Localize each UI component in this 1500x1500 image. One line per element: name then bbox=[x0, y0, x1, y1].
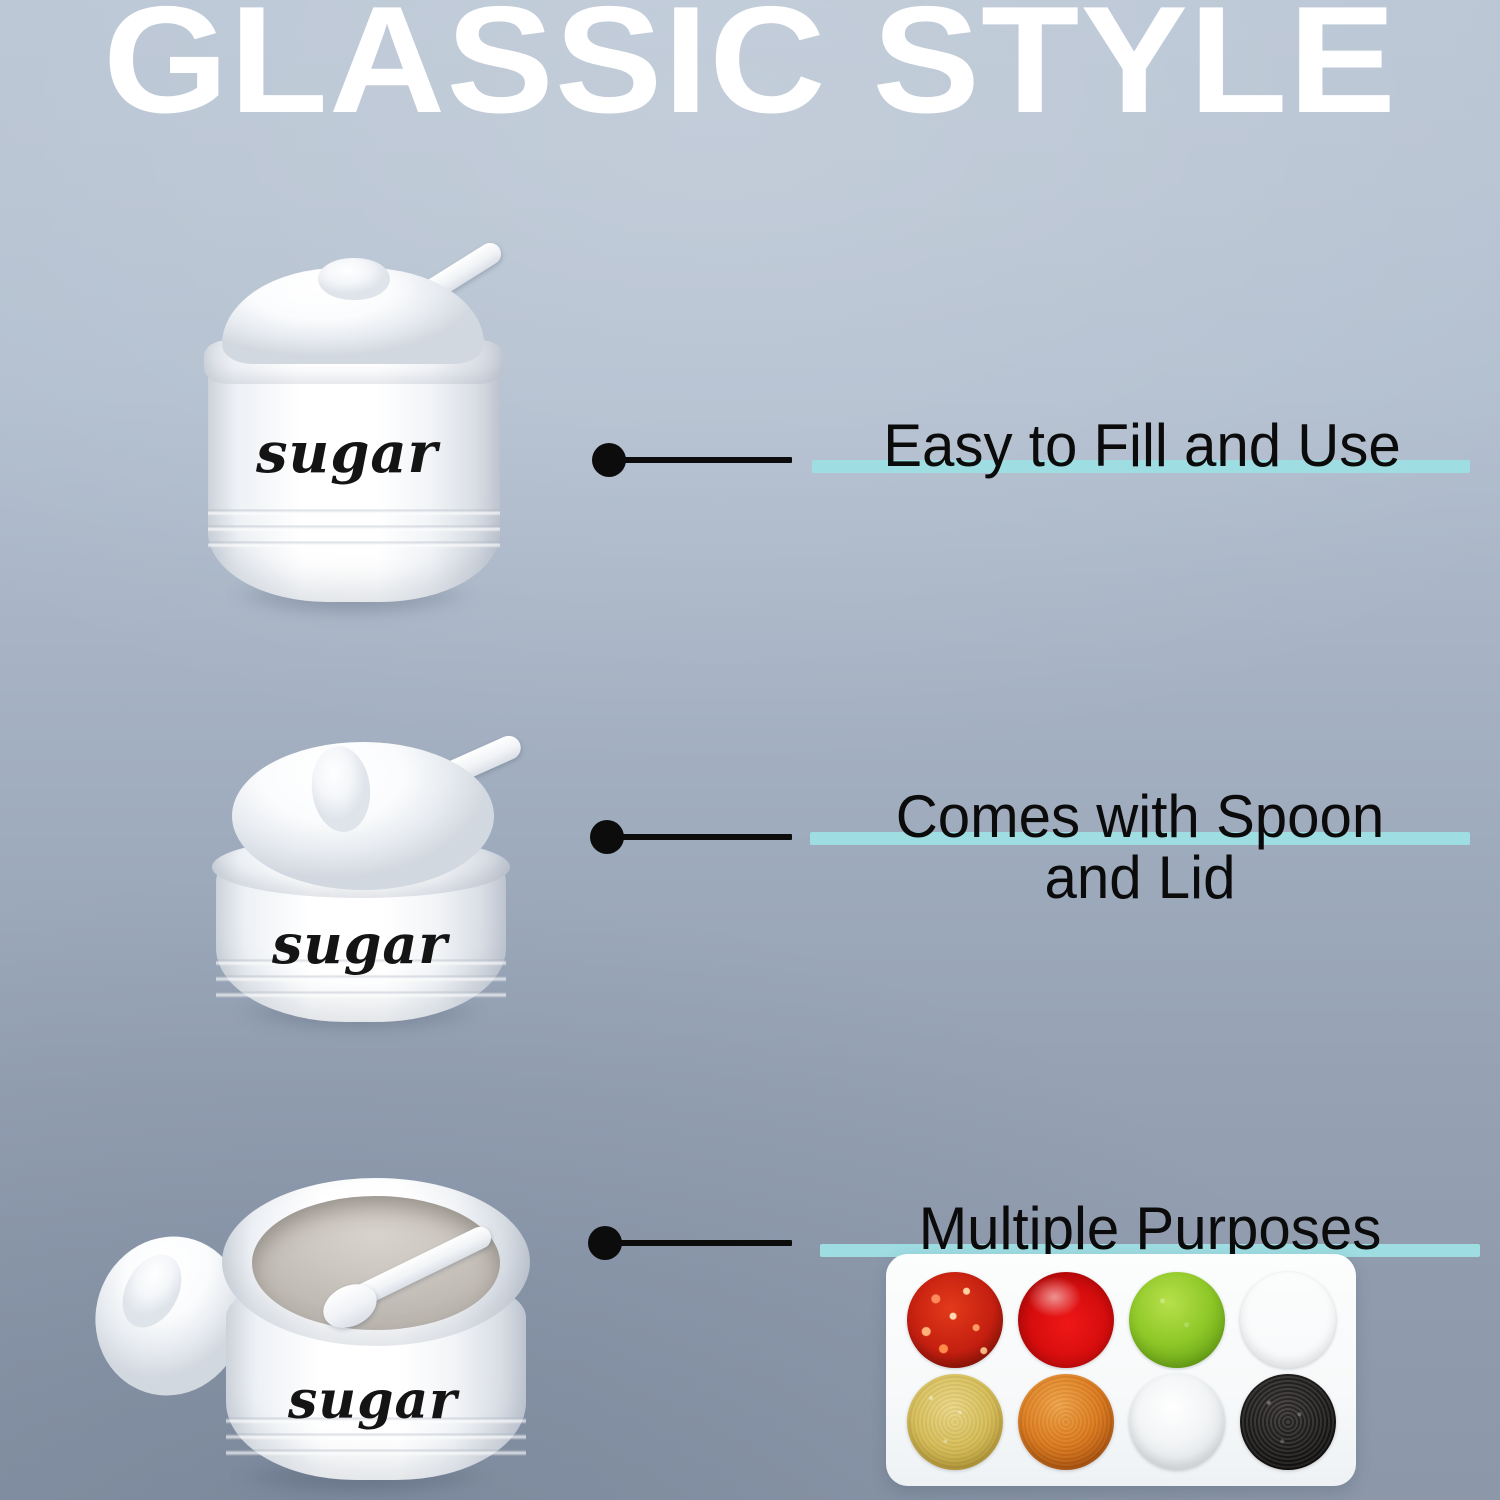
jar-sugar-label: sugar bbox=[288, 1370, 458, 1431]
callout-label: Multiple Purposes bbox=[828, 1198, 1472, 1259]
spice-well-dried-fruit-mix bbox=[1240, 1272, 1336, 1368]
spice-well-matcha-powder bbox=[1129, 1272, 1225, 1368]
jar-opening bbox=[252, 1196, 500, 1330]
jar-ribbing bbox=[208, 500, 500, 556]
leader-line bbox=[620, 457, 792, 463]
spice-well-millet-seeds bbox=[907, 1374, 1003, 1470]
callout-label: Comes with Spoon and Lid bbox=[818, 786, 1462, 908]
spice-well-red-chili-paste bbox=[1018, 1272, 1114, 1368]
jar-sugar-label: sugar bbox=[256, 420, 438, 486]
infographic-canvas: GLASSIC STYLE Easy to Fill and Use Comes… bbox=[0, 0, 1500, 1500]
callout-label: Easy to Fill and Use bbox=[820, 415, 1464, 476]
spice-well-chopped-chili bbox=[907, 1272, 1003, 1368]
spice-well-chili-powder bbox=[1018, 1374, 1114, 1470]
spice-well-salt bbox=[1129, 1374, 1225, 1470]
leader-line bbox=[618, 834, 792, 840]
lid-knob bbox=[318, 258, 390, 300]
page-title: GLASSIC STYLE bbox=[0, 0, 1500, 136]
leader-line bbox=[616, 1240, 792, 1246]
jar-sugar-label: sugar bbox=[272, 912, 448, 976]
spice-well-black-sesame bbox=[1240, 1374, 1336, 1470]
spice-sample-tray bbox=[886, 1254, 1356, 1486]
